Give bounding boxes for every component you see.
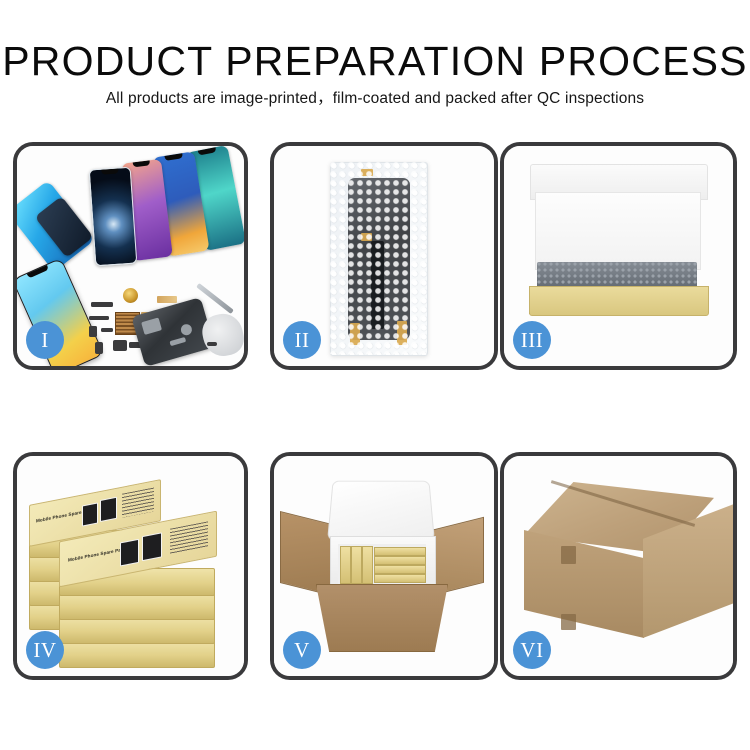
process-step-card-2[interactable]: II xyxy=(270,142,498,370)
stack-box-image-front-2 xyxy=(142,532,162,561)
foam-cooler-lid-icon xyxy=(327,481,435,541)
stack-box-f3 xyxy=(59,592,215,620)
process-step-card-3[interactable]: III xyxy=(500,142,737,370)
process-step-card-6[interactable]: VI xyxy=(500,452,737,680)
grey-foam-padding xyxy=(537,262,697,288)
stack-box-image-front-1 xyxy=(120,539,139,567)
tape-bottom-right xyxy=(397,321,407,345)
wrapped-flex-cable-icon xyxy=(371,241,384,329)
process-step-card-4[interactable]: Mobile Phone Spare Parts Mobile Phone Sp… xyxy=(13,452,248,680)
part-button-1 xyxy=(95,342,103,354)
part-speaker-icon xyxy=(113,340,127,351)
inner-box-front-icon xyxy=(529,286,709,316)
process-step-grid: I II III xyxy=(0,140,750,720)
step-badge-3: III xyxy=(513,321,551,359)
part-flex-1 xyxy=(157,296,177,303)
step-badge-1: I xyxy=(26,321,64,359)
packed-box-6 xyxy=(374,565,426,574)
stack-box-f4 xyxy=(59,616,215,644)
carton-tab-upper xyxy=(561,546,576,564)
part-screws xyxy=(207,342,217,346)
step-badge-2: II xyxy=(283,321,321,359)
packed-box-4 xyxy=(374,547,426,556)
bubble-wrap-bag-icon xyxy=(330,162,428,356)
tape-top xyxy=(361,169,373,176)
step-badge-6: VI xyxy=(513,631,551,669)
page-subtitle: All products are image-printed，film-coat… xyxy=(0,88,750,110)
part-bracket-3 xyxy=(101,328,113,332)
tape-mid xyxy=(361,233,372,241)
packed-box-2 xyxy=(351,546,362,584)
step-badge-4: IV xyxy=(26,631,64,669)
stack-box-image-rear-1 xyxy=(82,502,98,526)
packed-box-1 xyxy=(340,546,351,584)
packed-box-3 xyxy=(362,546,373,584)
carton-body-open-icon xyxy=(316,584,448,652)
stack-box-f5 xyxy=(59,640,215,668)
stack-box-label-front: Mobile Phone Spare Parts xyxy=(68,546,127,562)
page-title: PRODUCT PREPARATION PROCESS xyxy=(0,38,750,84)
packed-box-7 xyxy=(374,574,426,583)
step-badge-5: V xyxy=(283,631,321,669)
part-bracket-2 xyxy=(89,326,97,337)
stack-box-text-front xyxy=(170,521,208,554)
stack-box-text-rear xyxy=(122,488,154,518)
part-bar-1 xyxy=(91,302,113,307)
process-step-card-1[interactable]: I xyxy=(13,142,248,370)
part-bracket-1 xyxy=(89,316,109,320)
inner-box-foam-back xyxy=(535,192,701,270)
phone-front-glass-icon xyxy=(89,167,138,267)
packed-box-5 xyxy=(374,556,426,565)
carton-tab-lower xyxy=(561,614,576,630)
tape-bottom-left xyxy=(350,323,360,345)
foam-cooler-contents xyxy=(338,544,426,584)
stack-box-image-rear-2 xyxy=(100,497,117,522)
part-coil-icon xyxy=(123,288,138,303)
process-step-card-5[interactable]: V xyxy=(270,452,498,680)
